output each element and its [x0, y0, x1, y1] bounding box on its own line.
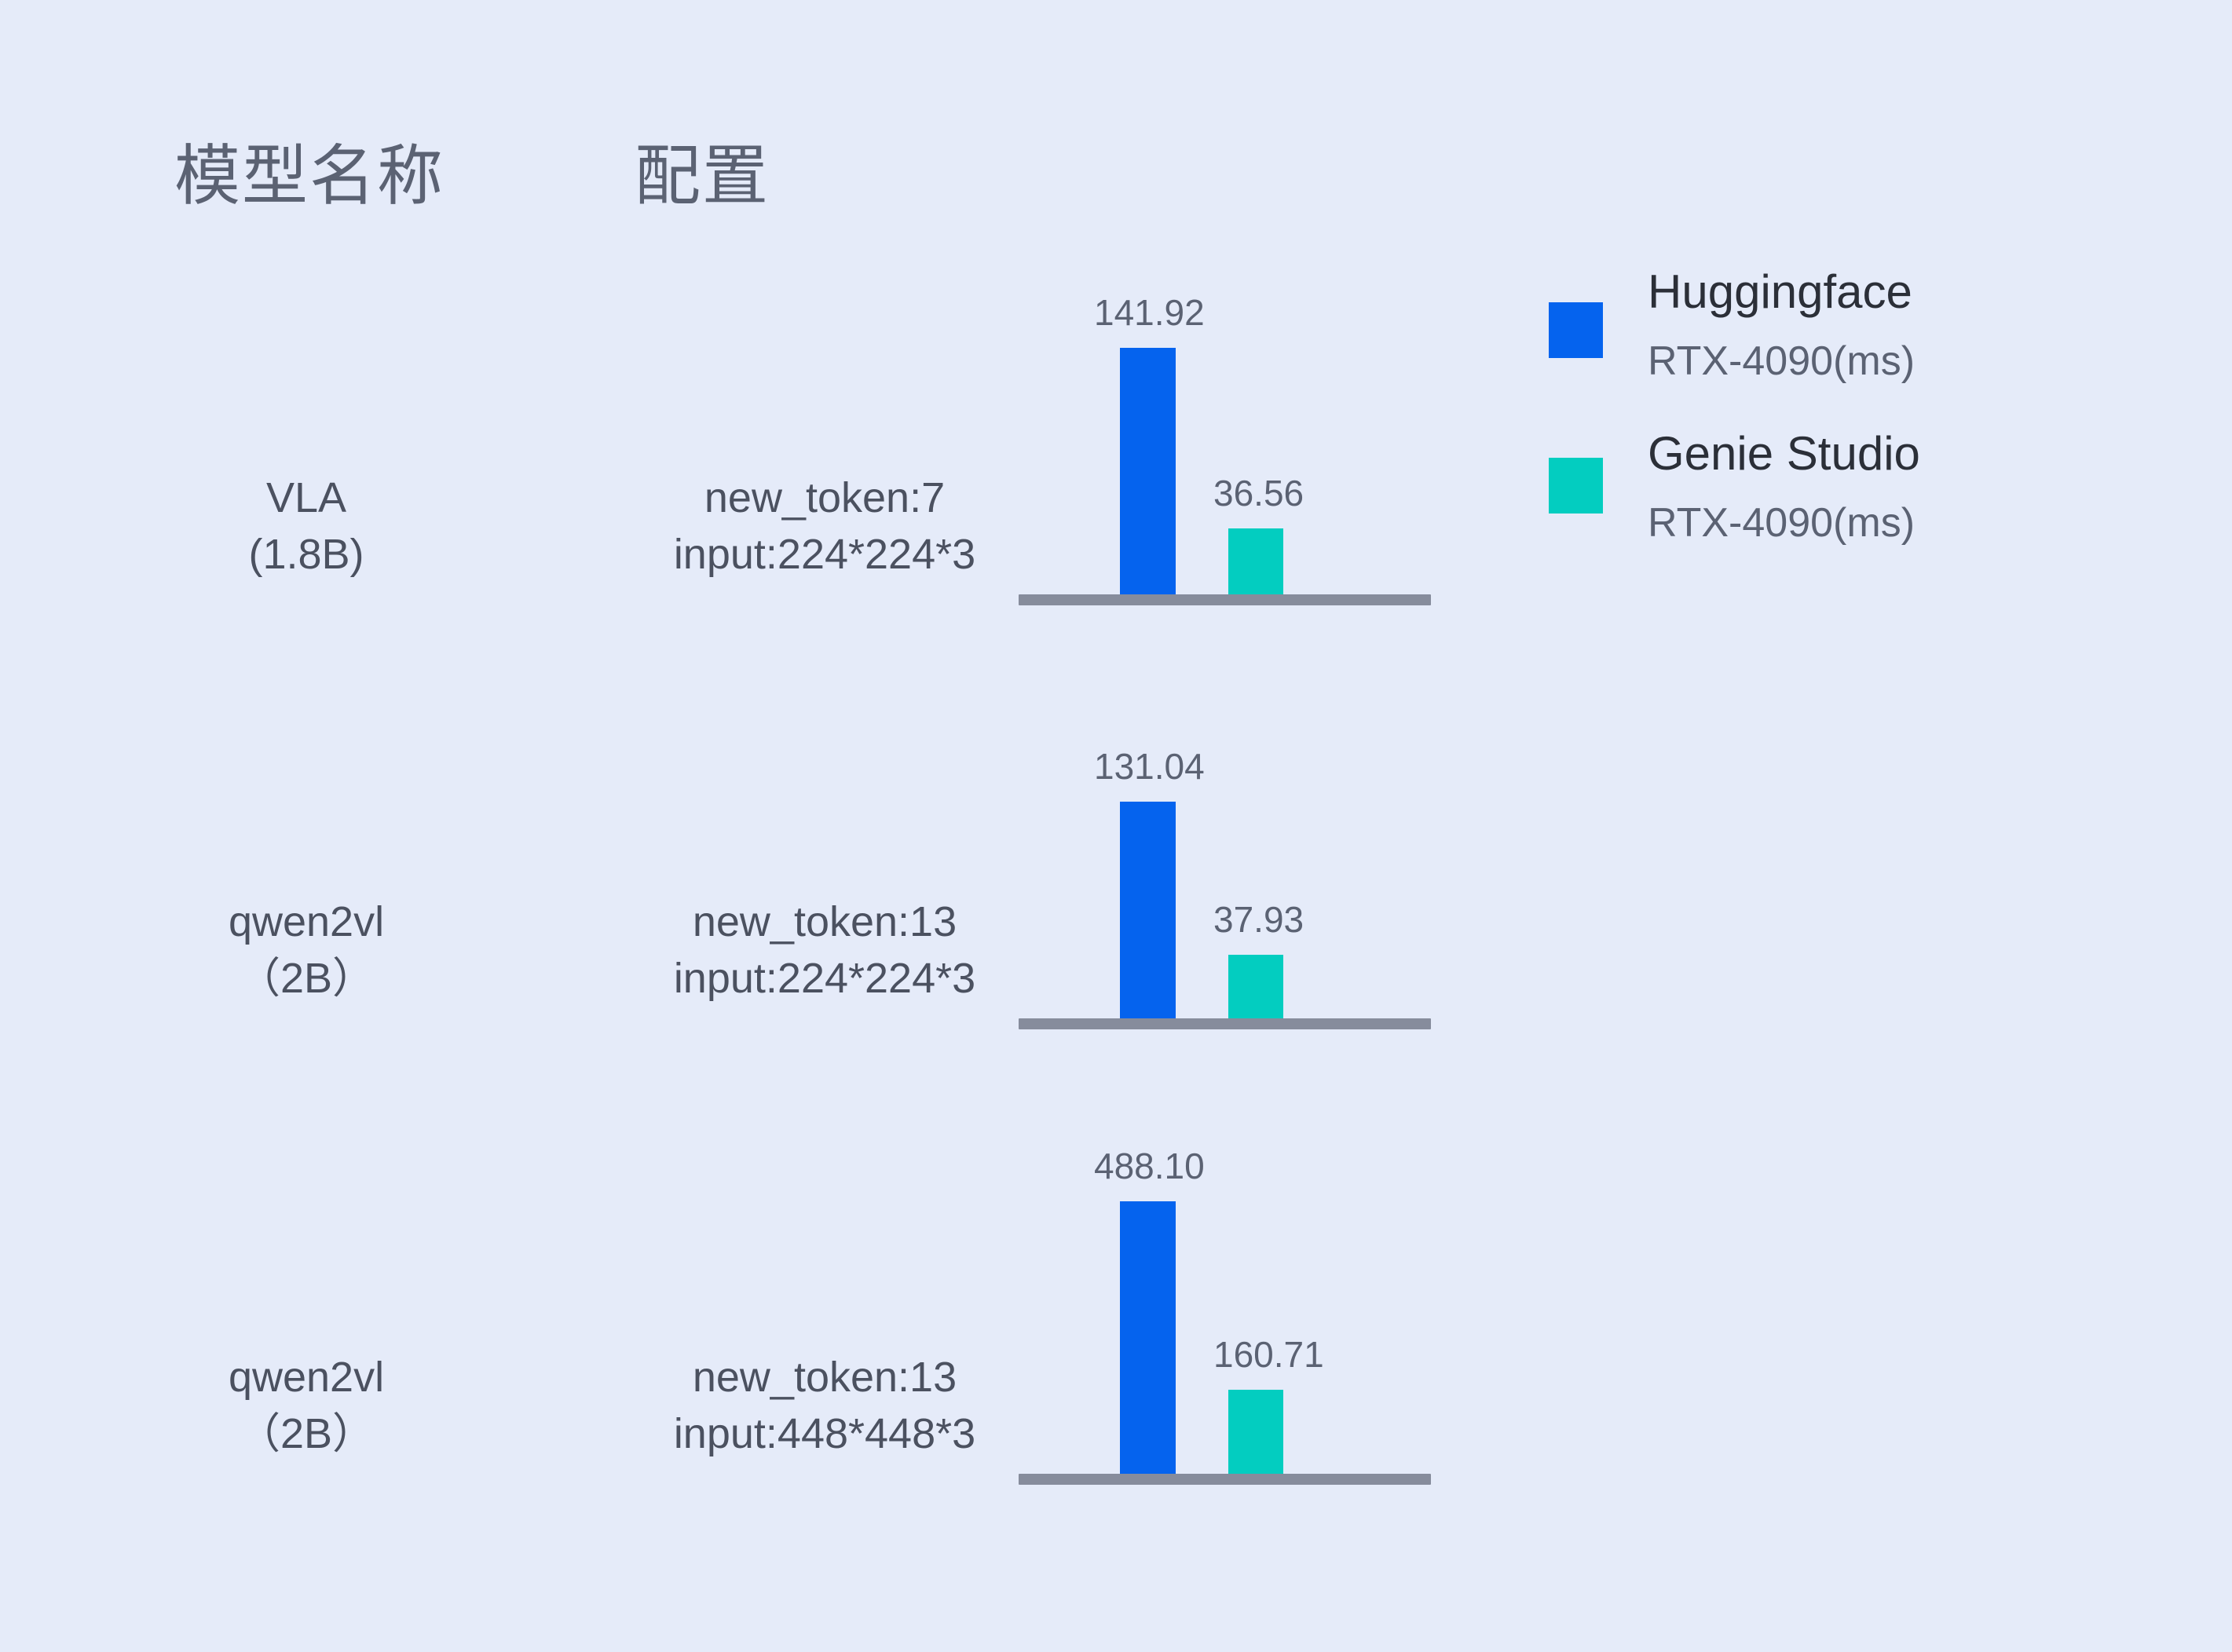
bar-group: 131.04 37.93 [1019, 691, 1431, 1024]
chart-baseline [1019, 1018, 1431, 1029]
chart-baseline [1019, 594, 1431, 605]
row-model-size: （2B） [141, 950, 471, 1007]
legend-swatch-blue-icon [1549, 302, 1603, 358]
bar-value-genie-studio: 160.71 [1213, 1336, 1324, 1372]
row-bar-chart: 131.04 37.93 [1019, 691, 1431, 1036]
bar-group: 488.10 160.71 [1019, 1131, 1431, 1482]
row-model-size: (1.8B) [141, 526, 471, 583]
row-bar-chart: 488.10 160.71 [1019, 1131, 1431, 1492]
bar-huggingface [1120, 1201, 1176, 1482]
legend-text-block: Genie Studio RTX-4090(ms) [1648, 430, 2166, 543]
legend-label-sub: RTX-4090(ms) [1648, 503, 2166, 543]
row-model-size: （2B） [141, 1405, 471, 1462]
table-row: qwen2vl （2B） new_token:13 input:224*224*… [0, 691, 2232, 1084]
bar-value-huggingface: 141.92 [1094, 294, 1205, 331]
legend-swatch-teal-icon [1549, 458, 1603, 514]
legend-text-block: Huggingface RTX-4090(ms) [1648, 269, 2166, 382]
row-bar-chart: 141.92 36.56 [1019, 267, 1431, 612]
column-header-config: 配置 [635, 143, 770, 209]
table-row: qwen2vl （2B） new_token:13 input:448*448*… [0, 1131, 2232, 1539]
row-model-label: qwen2vl （2B） [141, 1349, 471, 1463]
bar-huggingface [1120, 802, 1176, 1024]
bar-value-huggingface: 488.10 [1094, 1148, 1205, 1184]
slide-canvas: 模型名称 配置 VLA (1.8B) new_token:7 input:224… [0, 0, 2232, 1652]
legend-label-name: Huggingface [1648, 269, 2166, 316]
bar-value-genie-studio: 37.93 [1213, 901, 1304, 937]
legend-label-sub: RTX-4090(ms) [1648, 341, 2166, 382]
column-header-model-name: 模型名称 [174, 143, 445, 209]
bar-genie-studio [1228, 1390, 1283, 1482]
row-model-name: VLA [141, 470, 471, 526]
row-model-label: qwen2vl （2B） [141, 894, 471, 1007]
bar-value-huggingface: 131.04 [1094, 748, 1205, 784]
bar-group: 141.92 36.56 [1019, 267, 1431, 600]
bar-value-genie-studio: 36.56 [1213, 475, 1304, 511]
row-model-label: VLA (1.8B) [141, 470, 471, 583]
bar-genie-studio [1228, 955, 1283, 1024]
legend-label-name: Genie Studio [1648, 430, 2166, 477]
bar-huggingface [1120, 348, 1176, 600]
row-model-name: qwen2vl [141, 1349, 471, 1405]
chart-baseline [1019, 1474, 1431, 1485]
bar-genie-studio [1228, 528, 1283, 600]
row-model-name: qwen2vl [141, 894, 471, 950]
